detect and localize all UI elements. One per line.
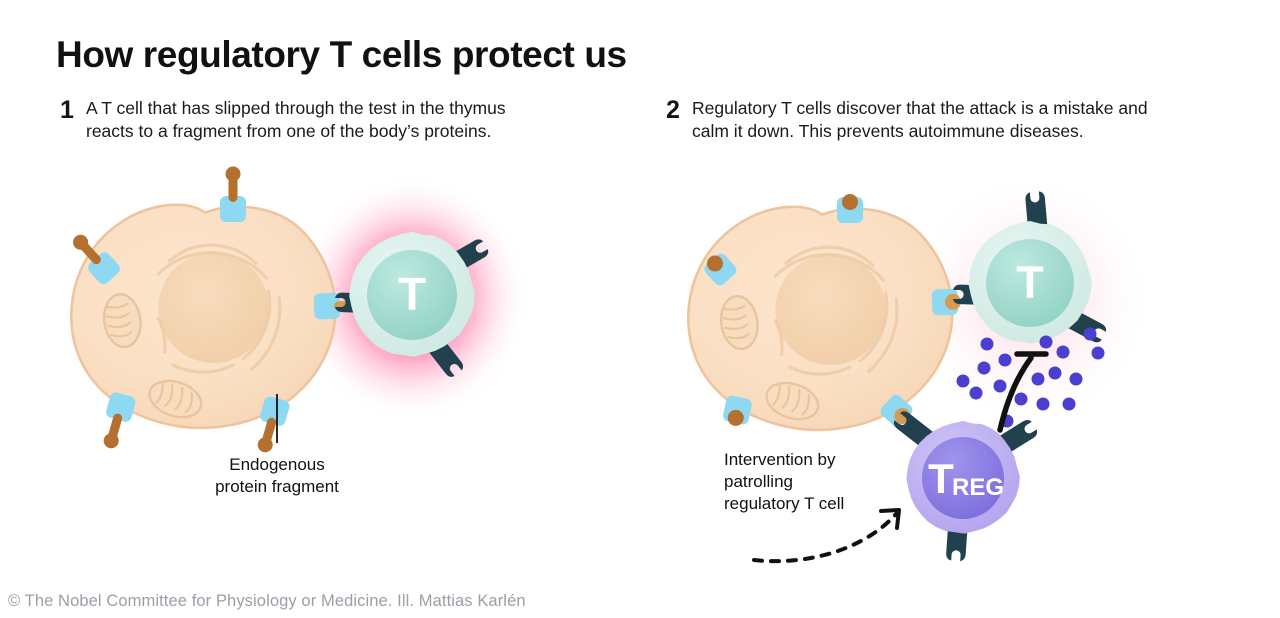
t-cell-label: T bbox=[1016, 257, 1044, 308]
treg-label-main: T bbox=[928, 455, 954, 502]
treg-cell: T REG bbox=[891, 409, 1039, 562]
nucleus bbox=[775, 255, 885, 365]
mhc-peptide-top bbox=[837, 194, 863, 223]
figure-canvas: How regulatory T cells protect us 1 A T … bbox=[0, 0, 1280, 618]
body-cell-panel-1 bbox=[71, 205, 335, 428]
copyright-credit: © The Nobel Committee for Physiology or … bbox=[8, 592, 526, 611]
nucleus bbox=[158, 253, 268, 363]
annotation-endogenous-protein-fragment: Endogenous protein fragment bbox=[212, 454, 342, 498]
mhc-peptide-top bbox=[220, 167, 246, 223]
treg-label-sub: REG bbox=[952, 474, 1004, 501]
panel-1-illustration: T bbox=[66, 167, 530, 456]
mhc-peptide-lower-left bbox=[97, 391, 137, 452]
annotation-intervention: Intervention by patrolling regulatory T … bbox=[724, 449, 904, 514]
illustration-scene: T bbox=[0, 0, 1280, 618]
body-cell-panel-2 bbox=[688, 207, 952, 430]
t-cell-label: T bbox=[398, 268, 426, 320]
dashed-arrow bbox=[754, 510, 899, 561]
